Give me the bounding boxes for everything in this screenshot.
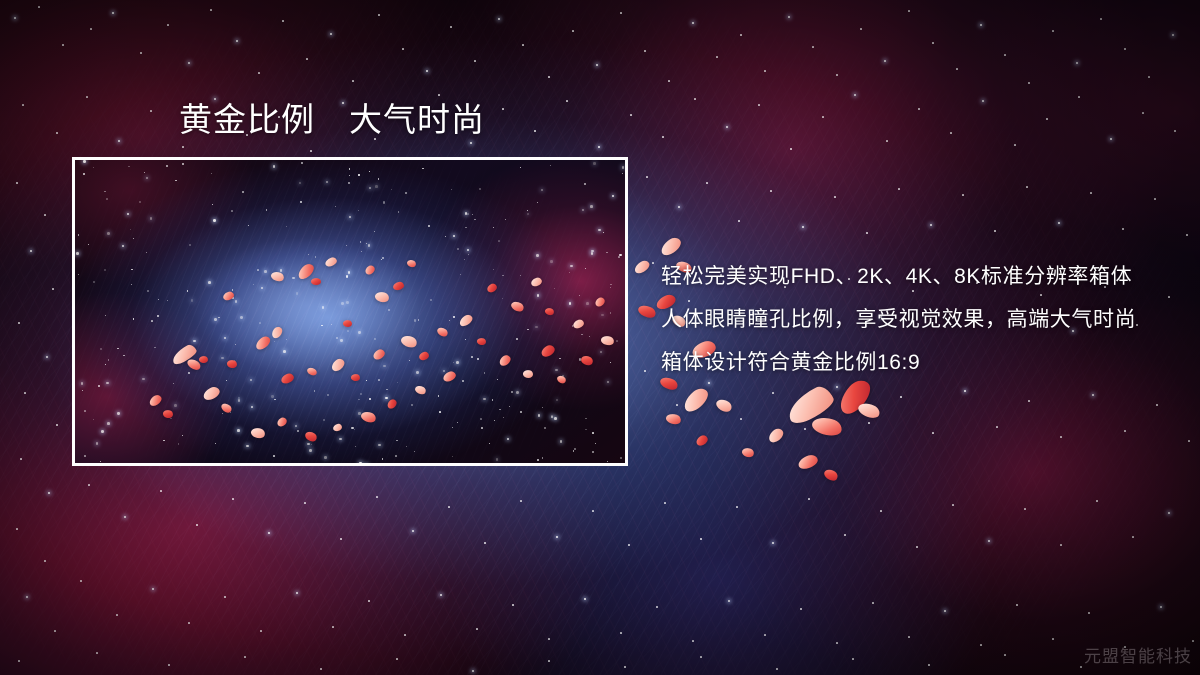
- star: [566, 100, 568, 102]
- rose-petal: [680, 385, 712, 415]
- star: [1052, 30, 1054, 32]
- star: [836, 642, 838, 644]
- star: [944, 610, 946, 612]
- star: [1046, 118, 1048, 120]
- star: [556, 536, 558, 538]
- star: [1132, 536, 1134, 538]
- star: [306, 58, 308, 60]
- star: [962, 194, 964, 196]
- star: [738, 220, 740, 222]
- star: [196, 524, 198, 526]
- star: [872, 602, 874, 604]
- presentation-slide: 黄金比例 大气时尚 轻松完美实现FHD、2K、4K、8K标准分辨率箱体 人体眼睛…: [0, 0, 1200, 675]
- star: [988, 540, 990, 542]
- star: [396, 658, 398, 660]
- star: [16, 528, 18, 530]
- star: [512, 604, 514, 606]
- star: [260, 630, 262, 632]
- star: [332, 626, 334, 628]
- star: [340, 538, 342, 540]
- star: [592, 510, 594, 512]
- star: [1096, 500, 1098, 502]
- star: [18, 660, 20, 662]
- star: [304, 502, 306, 504]
- star: [282, 20, 284, 22]
- star: [1052, 638, 1054, 640]
- star: [548, 660, 550, 662]
- star: [620, 12, 622, 14]
- body-copy: 轻松完美实现FHD、2K、4K、8K标准分辨率箱体 人体眼睛瞳孔比例，享受视觉效…: [661, 255, 1181, 384]
- star: [1080, 666, 1082, 668]
- star: [764, 70, 766, 72]
- star: [866, 232, 868, 234]
- star: [996, 426, 998, 428]
- star: [916, 546, 918, 548]
- star: [38, 6, 40, 8]
- star: [928, 664, 930, 666]
- star: [908, 636, 910, 638]
- star: [268, 532, 270, 534]
- star: [776, 668, 778, 670]
- star: [678, 206, 680, 208]
- star: [470, 142, 472, 144]
- star: [310, 150, 312, 152]
- star: [167, 24, 169, 26]
- star: [627, 336, 628, 338]
- star: [628, 544, 630, 546]
- star: [932, 432, 934, 434]
- star: [88, 484, 90, 486]
- star: [692, 22, 694, 24]
- star: [758, 104, 760, 106]
- star: [852, 658, 854, 660]
- star: [700, 656, 702, 658]
- star: [956, 68, 958, 70]
- inset-image-frame: [72, 157, 628, 466]
- star: [224, 596, 226, 598]
- star: [1060, 544, 1062, 546]
- star: [18, 322, 20, 324]
- rose-petal: [665, 412, 682, 426]
- star: [952, 504, 954, 506]
- star: [1124, 430, 1126, 432]
- star: [62, 44, 64, 46]
- rose-petal: [766, 426, 785, 444]
- star: [740, 34, 742, 36]
- star: [522, 44, 524, 46]
- star: [476, 628, 478, 630]
- star: [472, 670, 474, 672]
- star: [980, 24, 982, 26]
- star: [770, 190, 772, 192]
- star: [44, 214, 46, 216]
- star: [950, 132, 952, 134]
- star: [258, 72, 260, 74]
- star: [112, 12, 114, 14]
- star: [626, 280, 627, 281]
- star: [296, 592, 298, 594]
- star: [534, 130, 536, 132]
- star: [788, 16, 790, 18]
- star: [160, 490, 162, 492]
- star: [474, 60, 476, 62]
- star: [1016, 604, 1018, 606]
- star: [898, 188, 900, 190]
- star: [880, 510, 882, 512]
- star: [620, 632, 622, 634]
- star: [368, 600, 370, 602]
- star: [662, 136, 664, 138]
- star: [1076, 62, 1078, 64]
- star: [572, 30, 574, 32]
- rose-petal: [810, 414, 844, 439]
- star: [772, 392, 774, 394]
- star: [1160, 606, 1162, 608]
- star: [376, 496, 378, 498]
- star: [1168, 512, 1170, 514]
- star: [14, 17, 16, 19]
- star: [378, 14, 380, 16]
- star: [664, 502, 666, 504]
- star: [1122, 228, 1124, 230]
- star: [124, 516, 126, 518]
- star: [150, 110, 152, 112]
- star: [836, 386, 838, 388]
- star: [644, 370, 646, 372]
- star: [1172, 34, 1174, 36]
- star: [1028, 82, 1030, 84]
- body-line-1: 轻松完美实现FHD、2K、4K、8K标准分辨率箱体: [661, 255, 1181, 298]
- star: [694, 98, 696, 100]
- star: [320, 668, 322, 670]
- star: [502, 108, 504, 110]
- star: [772, 542, 774, 544]
- star: [706, 182, 708, 184]
- star: [716, 56, 718, 58]
- star: [1156, 404, 1158, 406]
- inset-nebula-filaments: [75, 160, 625, 463]
- star: [844, 534, 846, 536]
- star: [726, 126, 728, 128]
- star: [140, 52, 142, 54]
- star: [627, 342, 628, 343]
- star: [836, 74, 838, 76]
- star: [232, 498, 234, 500]
- star: [1186, 234, 1188, 236]
- star: [48, 492, 50, 494]
- star: [764, 634, 766, 636]
- star: [932, 42, 934, 44]
- star: [24, 392, 26, 394]
- star: [1060, 436, 1062, 438]
- rose-petal: [783, 383, 838, 427]
- watermark: 元盟智能科技: [1084, 642, 1192, 667]
- star: [214, 98, 216, 100]
- star: [450, 26, 452, 28]
- rose-petal: [741, 446, 755, 459]
- star: [982, 100, 984, 102]
- star: [236, 40, 238, 42]
- star: [676, 404, 678, 406]
- rose-petal: [822, 467, 839, 483]
- star: [52, 288, 54, 290]
- star: [90, 28, 92, 30]
- star: [1092, 394, 1094, 396]
- star: [448, 506, 450, 508]
- star: [30, 250, 32, 252]
- star: [854, 94, 856, 96]
- star: [1090, 192, 1092, 194]
- star: [1028, 400, 1030, 402]
- star: [868, 422, 870, 424]
- star: [728, 600, 730, 602]
- star: [834, 196, 836, 198]
- star: [918, 108, 920, 110]
- star: [1148, 76, 1150, 78]
- star: [365, 464, 368, 466]
- star: [1014, 144, 1016, 146]
- star: [352, 80, 354, 82]
- star: [56, 132, 58, 134]
- rose-petal: [797, 453, 820, 471]
- star: [930, 224, 932, 226]
- star: [1110, 138, 1112, 140]
- star: [598, 146, 600, 148]
- star: [692, 640, 694, 642]
- star: [118, 140, 120, 142]
- star: [1100, 18, 1102, 20]
- star: [808, 498, 810, 500]
- rose-petal: [856, 400, 881, 421]
- star: [596, 64, 598, 66]
- star: [1024, 508, 1026, 510]
- star: [1058, 222, 1060, 224]
- star: [54, 630, 56, 632]
- star: [86, 96, 88, 98]
- star: [402, 48, 404, 50]
- star: [884, 60, 886, 62]
- star: [624, 666, 626, 668]
- star: [22, 104, 24, 106]
- star: [56, 424, 58, 426]
- star: [822, 116, 824, 118]
- star: [1026, 186, 1028, 188]
- star: [404, 634, 406, 636]
- star: [548, 638, 550, 640]
- star: [860, 28, 862, 30]
- star: [1188, 440, 1190, 442]
- star: [1004, 654, 1006, 656]
- star: [668, 80, 670, 82]
- star: [644, 50, 646, 52]
- star: [980, 644, 982, 646]
- page-title: 黄金比例 大气时尚: [179, 101, 485, 139]
- star: [412, 530, 414, 532]
- star: [20, 458, 22, 460]
- star: [438, 94, 440, 96]
- star: [520, 500, 522, 502]
- rose-petal: [695, 434, 710, 448]
- star: [1088, 612, 1090, 614]
- star: [790, 148, 792, 150]
- rose-petal: [714, 397, 733, 415]
- star: [426, 70, 428, 72]
- star: [46, 356, 48, 358]
- star: [168, 664, 170, 666]
- star: [740, 418, 742, 420]
- star: [548, 76, 550, 78]
- star: [802, 226, 804, 228]
- star: [630, 114, 632, 116]
- star: [210, 9, 212, 11]
- star: [584, 598, 586, 600]
- star: [908, 10, 910, 12]
- star: [188, 62, 190, 64]
- star: [1004, 54, 1006, 56]
- star: [16, 182, 18, 184]
- star: [44, 560, 46, 562]
- star: [804, 428, 806, 430]
- star: [736, 506, 738, 508]
- rose-petal: [633, 259, 652, 276]
- star: [900, 396, 902, 398]
- body-line-3: 箱体设计符合黄金比例16:9: [661, 341, 1181, 384]
- star: [1142, 112, 1144, 114]
- star: [812, 46, 814, 48]
- body-line-2: 人体眼睛瞳孔比例，享受视觉效果，高端大气时尚: [661, 298, 1181, 341]
- star: [800, 608, 802, 610]
- star: [244, 656, 246, 658]
- star: [656, 606, 658, 608]
- star: [1192, 640, 1194, 642]
- star: [1078, 96, 1080, 98]
- star: [652, 262, 654, 264]
- star: [26, 596, 28, 598]
- star: [484, 542, 486, 544]
- star: [646, 176, 648, 178]
- rose-petal: [636, 303, 657, 321]
- star: [1124, 48, 1126, 50]
- star: [964, 390, 966, 392]
- star: [152, 588, 154, 590]
- star: [178, 463, 179, 464]
- star: [498, 18, 500, 20]
- star: [626, 286, 628, 288]
- star: [994, 230, 996, 232]
- star: [116, 614, 118, 616]
- star: [330, 33, 332, 35]
- star: [1154, 198, 1156, 200]
- star: [80, 580, 82, 582]
- star: [886, 140, 888, 142]
- star: [440, 594, 442, 596]
- star: [96, 652, 98, 654]
- star: [182, 146, 184, 148]
- star: [1174, 130, 1176, 132]
- star: [700, 538, 702, 540]
- star: [188, 622, 190, 624]
